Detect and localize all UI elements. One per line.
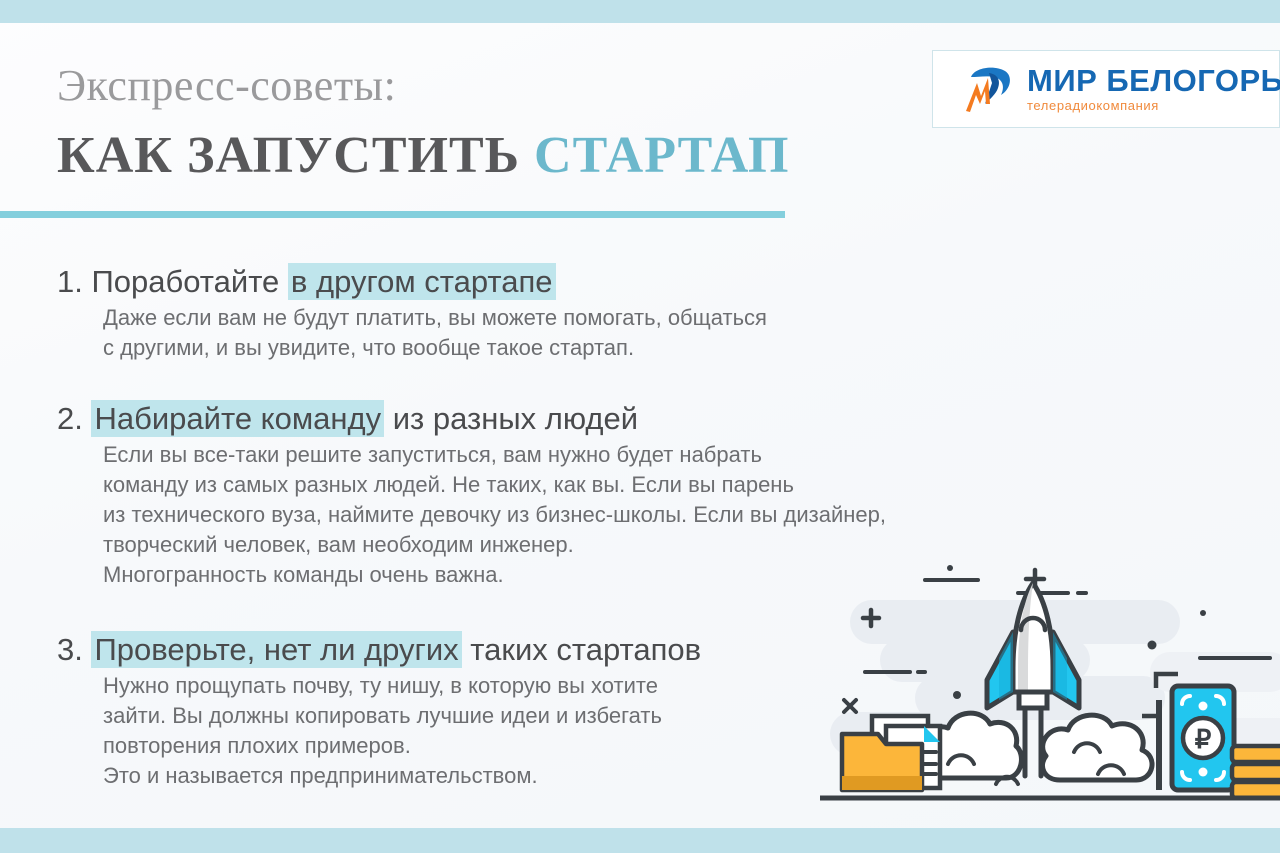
slide-root: Экспресс-советы: КАК ЗАПУСТИТЬ СТАРТАП М… xyxy=(0,0,1280,853)
tip-item: 1. Поработайте в другом стартапе Даже ес… xyxy=(57,262,1167,363)
top-accent-bar xyxy=(0,0,1280,23)
tip-body-line: Даже если вам не будут платить, вы может… xyxy=(103,303,1167,333)
tip-heading-plain-after: из разных людей xyxy=(384,401,638,436)
rocket-launch-illustration: ₽ xyxy=(820,540,1280,830)
tip-number: 3. xyxy=(57,632,83,667)
kicker-text: Экспресс-советы: xyxy=(57,63,396,109)
tip-heading-highlight: в другом стартапе xyxy=(288,263,556,300)
tip-body-line: команду из самых разных людей. Не таких,… xyxy=(103,470,1167,500)
tip-body-line: Если вы все-таки решите запуститься, вам… xyxy=(103,440,1167,470)
title-divider-rule xyxy=(0,211,785,218)
brand-logo: МИР БЕЛОГОРЬЯ телерадиокомпания xyxy=(932,50,1280,128)
tip-heading: 1. Поработайте в другом стартапе xyxy=(57,262,1167,302)
coin-stack-icon xyxy=(1232,746,1280,798)
decor-x-icon xyxy=(844,700,856,712)
tip-heading: 2. Набирайте команду из разных людей xyxy=(57,399,1167,439)
swoosh-logo-mark-icon xyxy=(961,63,1017,115)
page-title: КАК ЗАПУСТИТЬ СТАРТАП xyxy=(57,128,789,184)
bottom-accent-bar xyxy=(0,828,1280,853)
tip-body-line: из технического вуза, наймите девочку из… xyxy=(103,500,1167,530)
ruble-symbol: ₽ xyxy=(1195,725,1212,754)
tip-heading-plain-after: таких стартапов xyxy=(462,632,701,667)
tip-body: Даже если вам не будут платить, вы может… xyxy=(103,303,1167,363)
tip-heading-plain-before: Поработайте xyxy=(91,264,287,299)
tip-heading-highlight: Набирайте команду xyxy=(91,400,384,437)
logo-name: МИР БЕЛОГОРЬЯ xyxy=(1027,65,1280,96)
headline-main: КАК ЗАПУСТИТЬ xyxy=(57,127,534,184)
logo-subtitle: телерадиокомпания xyxy=(1027,98,1280,114)
tip-number: 2. xyxy=(57,401,83,436)
tip-number: 1. xyxy=(57,264,83,299)
exhaust-cloud-icon xyxy=(921,713,1152,780)
logo-wordmark: МИР БЕЛОГОРЬЯ телерадиокомпания xyxy=(1027,65,1280,114)
tip-body-line: с другими, и вы увидите, что вообще тако… xyxy=(103,333,1167,363)
tip-heading-highlight: Проверьте, нет ли других xyxy=(91,631,461,668)
headline-accent: СТАРТАП xyxy=(534,127,789,184)
